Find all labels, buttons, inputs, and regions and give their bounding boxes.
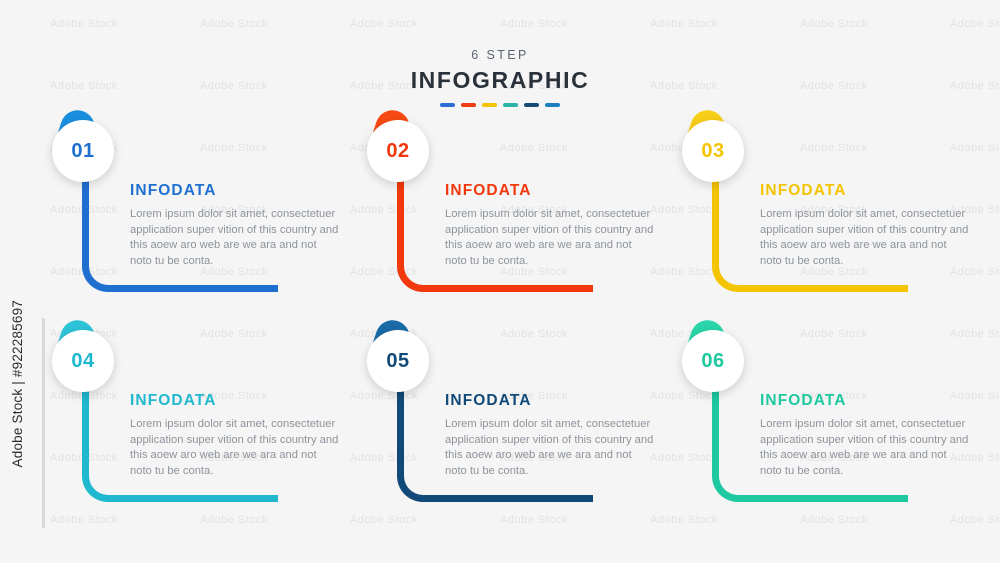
step-bracket-tail [854, 285, 908, 292]
step-badge[interactable]: 05 [367, 330, 429, 392]
step-badge[interactable]: 01 [52, 120, 114, 182]
step-title: INFODATA [130, 392, 340, 410]
step-bracket-tail [539, 285, 593, 292]
step-title: INFODATA [760, 392, 970, 410]
step-bracket-tail [854, 495, 908, 502]
step-number: 01 [52, 120, 114, 182]
step-card-06[interactable]: 06INFODATALorem ipsum dolor sit amet, co… [660, 330, 960, 530]
step-text-block: INFODATALorem ipsum dolor sit amet, cons… [130, 392, 340, 479]
step-text-block: INFODATALorem ipsum dolor sit amet, cons… [445, 392, 655, 479]
step-title: INFODATA [445, 392, 655, 410]
step-number: 02 [367, 120, 429, 182]
step-title: INFODATA [760, 182, 970, 200]
step-card-01[interactable]: 01INFODATALorem ipsum dolor sit amet, co… [30, 120, 330, 320]
step-bracket-tail [224, 495, 278, 502]
step-card-02[interactable]: 02INFODATALorem ipsum dolor sit amet, co… [345, 120, 645, 320]
step-text-block: INFODATALorem ipsum dolor sit amet, cons… [445, 182, 655, 269]
step-description: Lorem ipsum dolor sit amet, consectetuer… [130, 417, 340, 479]
step-card-03[interactable]: 03INFODATALorem ipsum dolor sit amet, co… [660, 120, 960, 320]
step-bracket-tail [539, 495, 593, 502]
step-card-04[interactable]: 04INFODATALorem ipsum dolor sit amet, co… [30, 330, 330, 530]
step-text-block: INFODATALorem ipsum dolor sit amet, cons… [760, 182, 970, 269]
step-number: 05 [367, 330, 429, 392]
step-description: Lorem ipsum dolor sit amet, consectetuer… [130, 207, 340, 269]
step-description: Lorem ipsum dolor sit amet, consectetuer… [760, 207, 970, 269]
step-text-block: INFODATALorem ipsum dolor sit amet, cons… [130, 182, 340, 269]
step-number: 06 [682, 330, 744, 392]
step-title: INFODATA [130, 182, 340, 200]
step-text-block: INFODATALorem ipsum dolor sit amet, cons… [760, 392, 970, 479]
steps-grid: 01INFODATALorem ipsum dolor sit amet, co… [0, 0, 1000, 563]
step-badge[interactable]: 02 [367, 120, 429, 182]
step-description: Lorem ipsum dolor sit amet, consectetuer… [445, 417, 655, 479]
step-badge[interactable]: 06 [682, 330, 744, 392]
step-bracket-tail [224, 285, 278, 292]
step-number: 03 [682, 120, 744, 182]
step-number: 04 [52, 330, 114, 392]
step-description: Lorem ipsum dolor sit amet, consectetuer… [760, 417, 970, 479]
step-badge[interactable]: 04 [52, 330, 114, 392]
step-description: Lorem ipsum dolor sit amet, consectetuer… [445, 207, 655, 269]
step-card-05[interactable]: 05INFODATALorem ipsum dolor sit amet, co… [345, 330, 645, 530]
step-badge[interactable]: 03 [682, 120, 744, 182]
step-title: INFODATA [445, 182, 655, 200]
